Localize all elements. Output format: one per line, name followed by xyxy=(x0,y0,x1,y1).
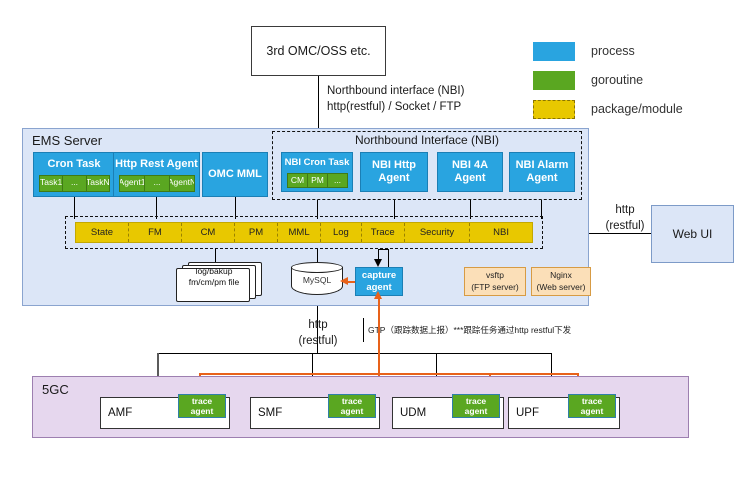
gtp-note-label: GTP（跟踪数据上报）***跟踪任务通过http restful下发 xyxy=(368,324,571,336)
webui-link-line1: http xyxy=(601,203,649,219)
log-backup-files-label: log/bakup fm/cm/pm file xyxy=(176,266,252,289)
trace-agent-smf-line1: trace xyxy=(342,396,362,406)
http-restful-label: http (restful) xyxy=(295,318,341,349)
process-http-rest-agent-title: Http Rest Agent xyxy=(112,158,201,171)
process-cron-task-title: Cron Task xyxy=(32,158,116,171)
web-ui-box[interactable]: Web UI xyxy=(651,205,734,263)
legend-label-goroutine: goroutine xyxy=(591,73,643,87)
5gc-title: 5GC xyxy=(42,382,69,397)
nginx-line2: (Web server) xyxy=(537,282,586,293)
ems-server-title: EMS Server xyxy=(32,133,102,148)
capture-agent-line1: capture xyxy=(362,270,396,281)
trace-agent-amf-line1: trace xyxy=(192,396,212,406)
trace-agent-amf[interactable]: trace agent xyxy=(178,394,226,418)
gtp-note-divider xyxy=(363,318,364,342)
module-bar: State FM CM PM MML Log Trace Security NB… xyxy=(75,222,533,243)
module-state[interactable]: State xyxy=(76,223,129,242)
goroutine-task-ellipsis: ... xyxy=(62,175,86,192)
process-nbi-4a-agent-title: NBI 4A Agent xyxy=(436,159,504,184)
trace-agent-upf-line2: agent xyxy=(581,406,604,416)
nf-udm-label: UDM xyxy=(400,407,426,419)
http-restful-line2: (restful) xyxy=(295,334,341,350)
trace-agent-udm-line1: trace xyxy=(466,396,486,406)
goroutine-agent-ellipsis: ... xyxy=(144,175,170,192)
nginx-server-box: Nginx (Web server) xyxy=(531,267,591,296)
connector-omcoss-to-ems xyxy=(318,76,319,132)
process-nbi-http-agent[interactable]: NBI Http Agent xyxy=(360,152,428,192)
module-log[interactable]: Log xyxy=(321,223,362,242)
module-mml[interactable]: MML xyxy=(278,223,321,242)
arrowhead-gtp-to-capture xyxy=(374,291,382,299)
files-label-line2: fm/cm/pm file xyxy=(176,277,252,288)
trace-agent-amf-line2: agent xyxy=(191,406,214,416)
nbi-group-title: Northbound Interface (NBI) xyxy=(272,133,582,147)
goroutine-cm: CM xyxy=(287,173,308,188)
nf-upf-label: UPF xyxy=(516,407,539,419)
mysql-label: MySQL xyxy=(291,275,343,285)
vsftp-line2: (FTP server) xyxy=(471,282,519,293)
process-http-rest-agent[interactable]: Http Rest Agent Agent1 ... AgentN xyxy=(113,152,200,197)
connector-capture-to-mysql xyxy=(348,281,355,283)
module-trace[interactable]: Trace xyxy=(362,223,405,242)
trace-agent-smf-line2: agent xyxy=(341,406,364,416)
nf-amf-label: AMF xyxy=(108,407,132,419)
web-ui-label: Web UI xyxy=(673,227,713,241)
omc-oss-label: 3rd OMC/OSS etc. xyxy=(266,44,370,58)
connector-modules-to-mysql xyxy=(317,249,318,263)
legend-swatch-process xyxy=(533,42,575,61)
legend-label-process: process xyxy=(591,44,635,58)
goroutine-nbi-ellipsis: ... xyxy=(327,173,348,188)
vsftp-server-box: vsftp (FTP server) xyxy=(464,267,526,296)
goroutine-row-nbi-cron-task: CM PM ... xyxy=(287,173,347,188)
connector-capture-top-bridge xyxy=(378,249,389,250)
trace-agent-smf[interactable]: trace agent xyxy=(328,394,376,418)
process-nbi-cron-task[interactable]: NBI Cron Task CM PM ... xyxy=(281,152,353,192)
module-nbi[interactable]: NBI xyxy=(470,223,532,242)
nbi-link-label: Northbound interface (NBI) http(restful)… xyxy=(327,84,464,115)
connector-capture-top-right xyxy=(388,249,389,267)
goroutine-agent1: Agent1 xyxy=(119,175,145,192)
nbi-link-line2: http(restful) / Socket / FTP xyxy=(327,100,464,116)
process-nbi-4a-agent[interactable]: NBI 4A Agent xyxy=(437,152,503,192)
module-cm[interactable]: CM xyxy=(182,223,235,242)
goroutine-task1: Task1 xyxy=(39,175,63,192)
process-nbi-alarm-agent-title: NBI Alarm Agent xyxy=(508,159,576,184)
process-omc-mml[interactable]: OMC MML xyxy=(202,152,268,197)
goroutine-agentn: AgentN xyxy=(169,175,195,192)
goroutine-row-http-rest-agent: Agent1 ... AgentN xyxy=(119,175,194,192)
process-omc-mml-title: OMC MML xyxy=(201,168,269,181)
legend: process goroutine package/module xyxy=(533,42,733,120)
nginx-line1: Nginx xyxy=(550,270,572,281)
webui-link-line2: (restful) xyxy=(601,219,649,235)
process-nbi-http-agent-title: NBI Http Agent xyxy=(359,159,429,184)
webui-link-label: http (restful) xyxy=(601,203,649,234)
trace-agent-udm-line2: agent xyxy=(465,406,488,416)
module-fm[interactable]: FM xyxy=(129,223,182,242)
module-pm[interactable]: PM xyxy=(235,223,278,242)
connector-gtp-vertical-main xyxy=(378,301,380,373)
nbi-link-line1: Northbound interface (NBI) xyxy=(327,84,464,100)
connector-modules-to-files xyxy=(215,249,216,263)
http-restful-line1: http xyxy=(295,318,341,334)
process-nbi-cron-task-title: NBI Cron Task xyxy=(280,158,354,169)
files-label-line1: log/bakup xyxy=(176,266,252,277)
legend-swatch-goroutine xyxy=(533,71,575,90)
vsftp-line1: vsftp xyxy=(486,270,504,281)
omc-oss-box: 3rd OMC/OSS etc. xyxy=(251,26,386,76)
nf-smf-label: SMF xyxy=(258,407,282,419)
legend-label-package: package/module xyxy=(591,102,683,116)
trace-agent-udm[interactable]: trace agent xyxy=(452,394,500,418)
goroutine-taskn: TaskN xyxy=(86,175,110,192)
goroutine-row-cron-task: Task1 ... TaskN xyxy=(39,175,109,192)
bus-orange-horizontal xyxy=(199,373,578,375)
module-security[interactable]: Security xyxy=(405,223,470,242)
process-nbi-alarm-agent[interactable]: NBI Alarm Agent xyxy=(509,152,575,192)
trace-agent-upf[interactable]: trace agent xyxy=(568,394,616,418)
goroutine-pm: PM xyxy=(307,173,328,188)
arrowhead-modules-to-capture xyxy=(374,259,382,267)
bus-black-horizontal xyxy=(157,353,552,354)
legend-swatch-package xyxy=(533,100,575,119)
trace-agent-upf-line1: trace xyxy=(582,396,602,406)
process-cron-task[interactable]: Cron Task Task1 ... TaskN xyxy=(33,152,115,197)
